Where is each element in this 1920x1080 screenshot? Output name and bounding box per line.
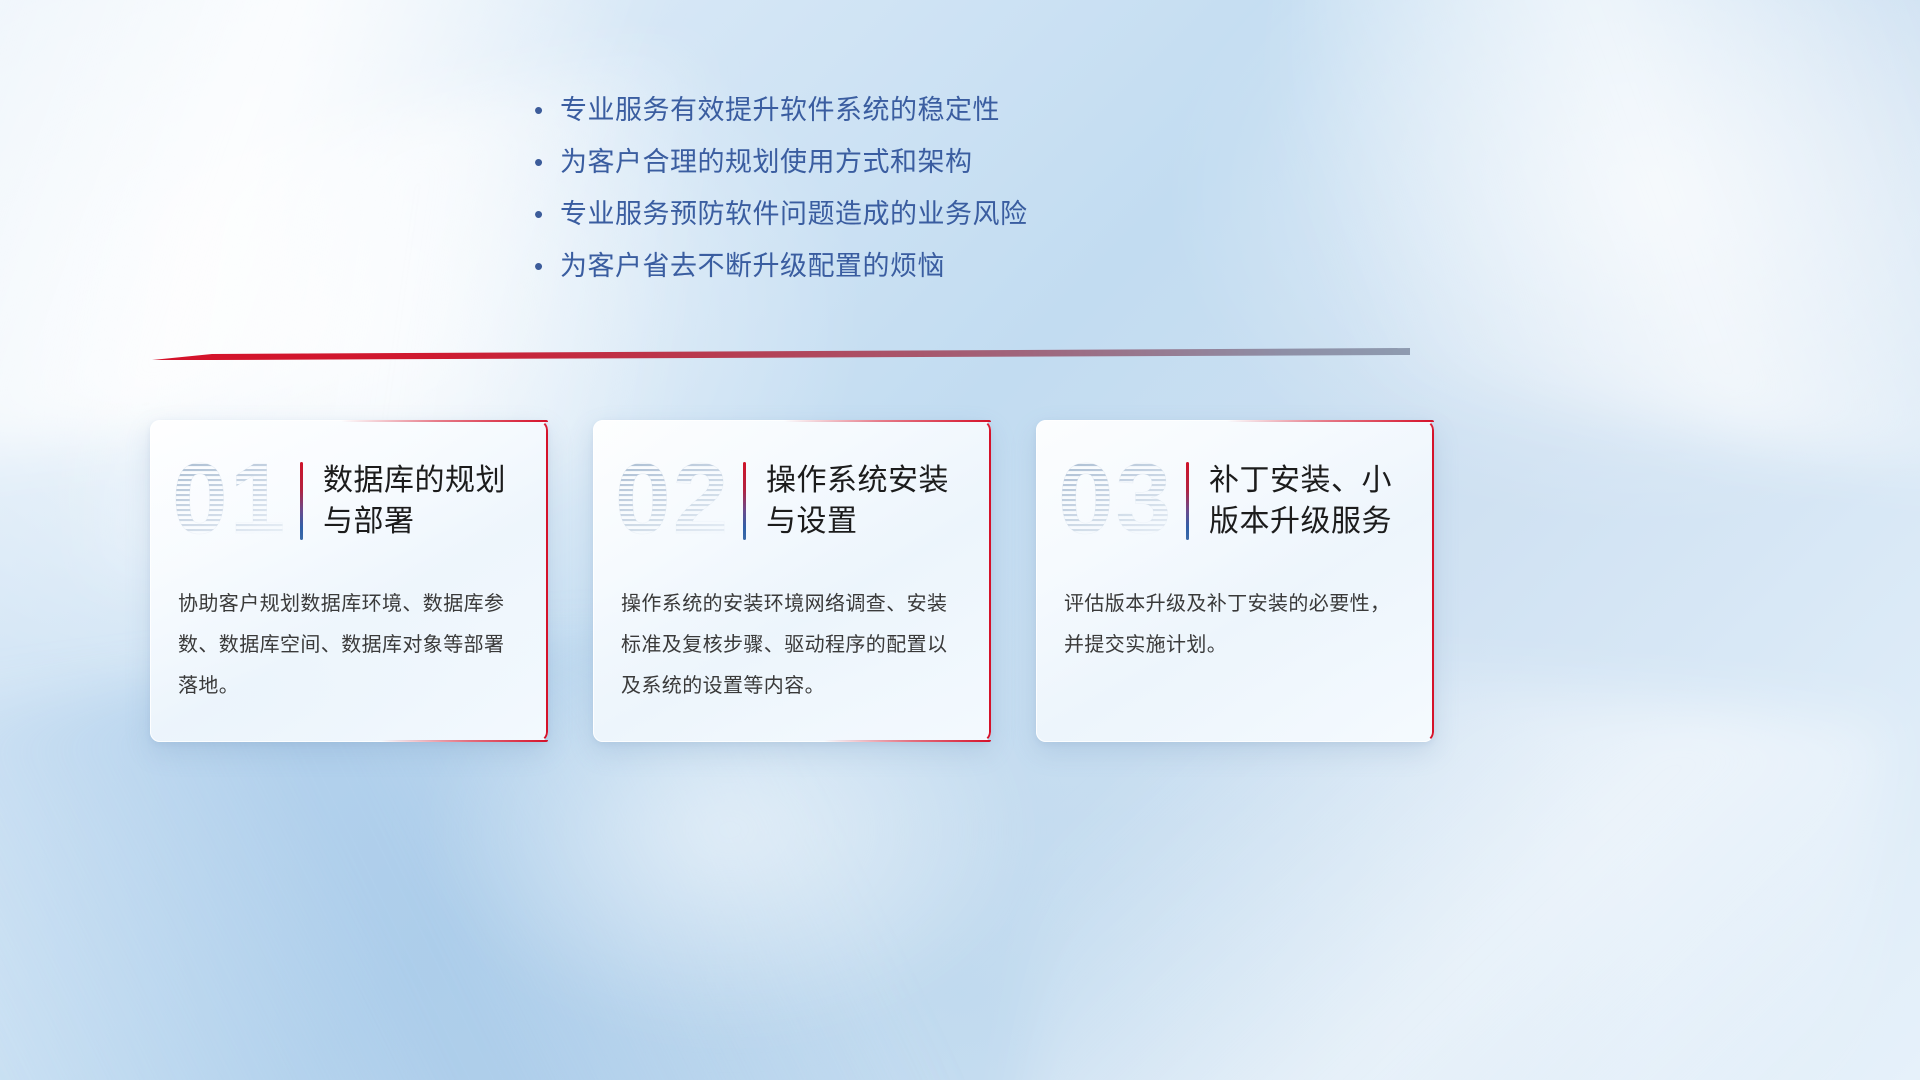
- svg-text:01: 01: [172, 449, 287, 553]
- list-item: • 为客户合理的规划使用方式和架构: [534, 140, 1434, 192]
- list-item: • 专业服务预防软件问题造成的业务风险: [534, 192, 1434, 244]
- card-title: 操作系统安装与设置: [766, 460, 973, 543]
- service-card-02[interactable]: 02 02 操作系统安装与设置 操作系统的安装环境网络调查、安装标准及复核步骤、…: [593, 420, 991, 742]
- bullet-dot-icon: •: [534, 149, 560, 175]
- bullet-text: 专业服务有效提升软件系统的稳定性: [560, 88, 1000, 127]
- card-title-separator: [300, 462, 303, 540]
- card-header: 01 01 数据库的规划与部署: [150, 420, 548, 570]
- bullet-dot-icon: •: [534, 97, 560, 123]
- service-card-01[interactable]: 01 01 数据库的规划与部署 协助客户规划数据库环境、数据库参数、数据库空间、…: [150, 420, 548, 742]
- card-number-03: 03 03: [1058, 449, 1182, 553]
- bullet-text: 为客户合理的规划使用方式和架构: [560, 140, 973, 179]
- benefits-bullet-list: • 专业服务有效提升软件系统的稳定性 • 为客户合理的规划使用方式和架构 • 专…: [534, 88, 1434, 296]
- service-card-list: 01 01 数据库的规划与部署 协助客户规划数据库环境、数据库参数、数据库空间、…: [150, 420, 1770, 745]
- card-number-02: 02 02: [615, 449, 739, 553]
- card-description: 协助客户规划数据库环境、数据库参数、数据库空间、数据库对象等部署落地。: [150, 570, 548, 708]
- card-bottom-accent: [593, 740, 991, 742]
- list-item: • 为客户省去不断升级配置的烦恼: [534, 244, 1434, 296]
- card-number-01: 01 01: [172, 449, 296, 553]
- gradient-divider: [152, 348, 1410, 366]
- slide-root: • 专业服务有效提升软件系统的稳定性 • 为客户合理的规划使用方式和架构 • 专…: [0, 0, 1920, 1080]
- card-header: 03 03 补丁安装、小版本升级服务: [1036, 420, 1434, 570]
- card-title: 数据库的规划与部署: [323, 460, 530, 543]
- card-description: 评估版本升级及补丁安装的必要性，并提交实施计划。: [1036, 570, 1434, 666]
- bullet-dot-icon: •: [534, 201, 560, 227]
- bullet-text: 为客户省去不断升级配置的烦恼: [560, 244, 945, 283]
- card-header: 02 02 操作系统安装与设置: [593, 420, 991, 570]
- svg-text:02: 02: [615, 449, 730, 553]
- card-title-separator: [743, 462, 746, 540]
- bullet-dot-icon: •: [534, 253, 560, 279]
- bullet-text: 专业服务预防软件问题造成的业务风险: [560, 192, 1028, 231]
- card-bottom-accent: [150, 740, 548, 742]
- service-card-03[interactable]: 03 03 补丁安装、小版本升级服务 评估版本升级及补丁安装的必要性，并提交实施…: [1036, 420, 1434, 742]
- svg-text:03: 03: [1058, 449, 1173, 553]
- card-description: 操作系统的安装环境网络调查、安装标准及复核步骤、驱动程序的配置以及系统的设置等内…: [593, 570, 991, 708]
- list-item: • 专业服务有效提升软件系统的稳定性: [534, 88, 1434, 140]
- card-title-separator: [1186, 462, 1189, 540]
- card-title: 补丁安装、小版本升级服务: [1209, 460, 1416, 543]
